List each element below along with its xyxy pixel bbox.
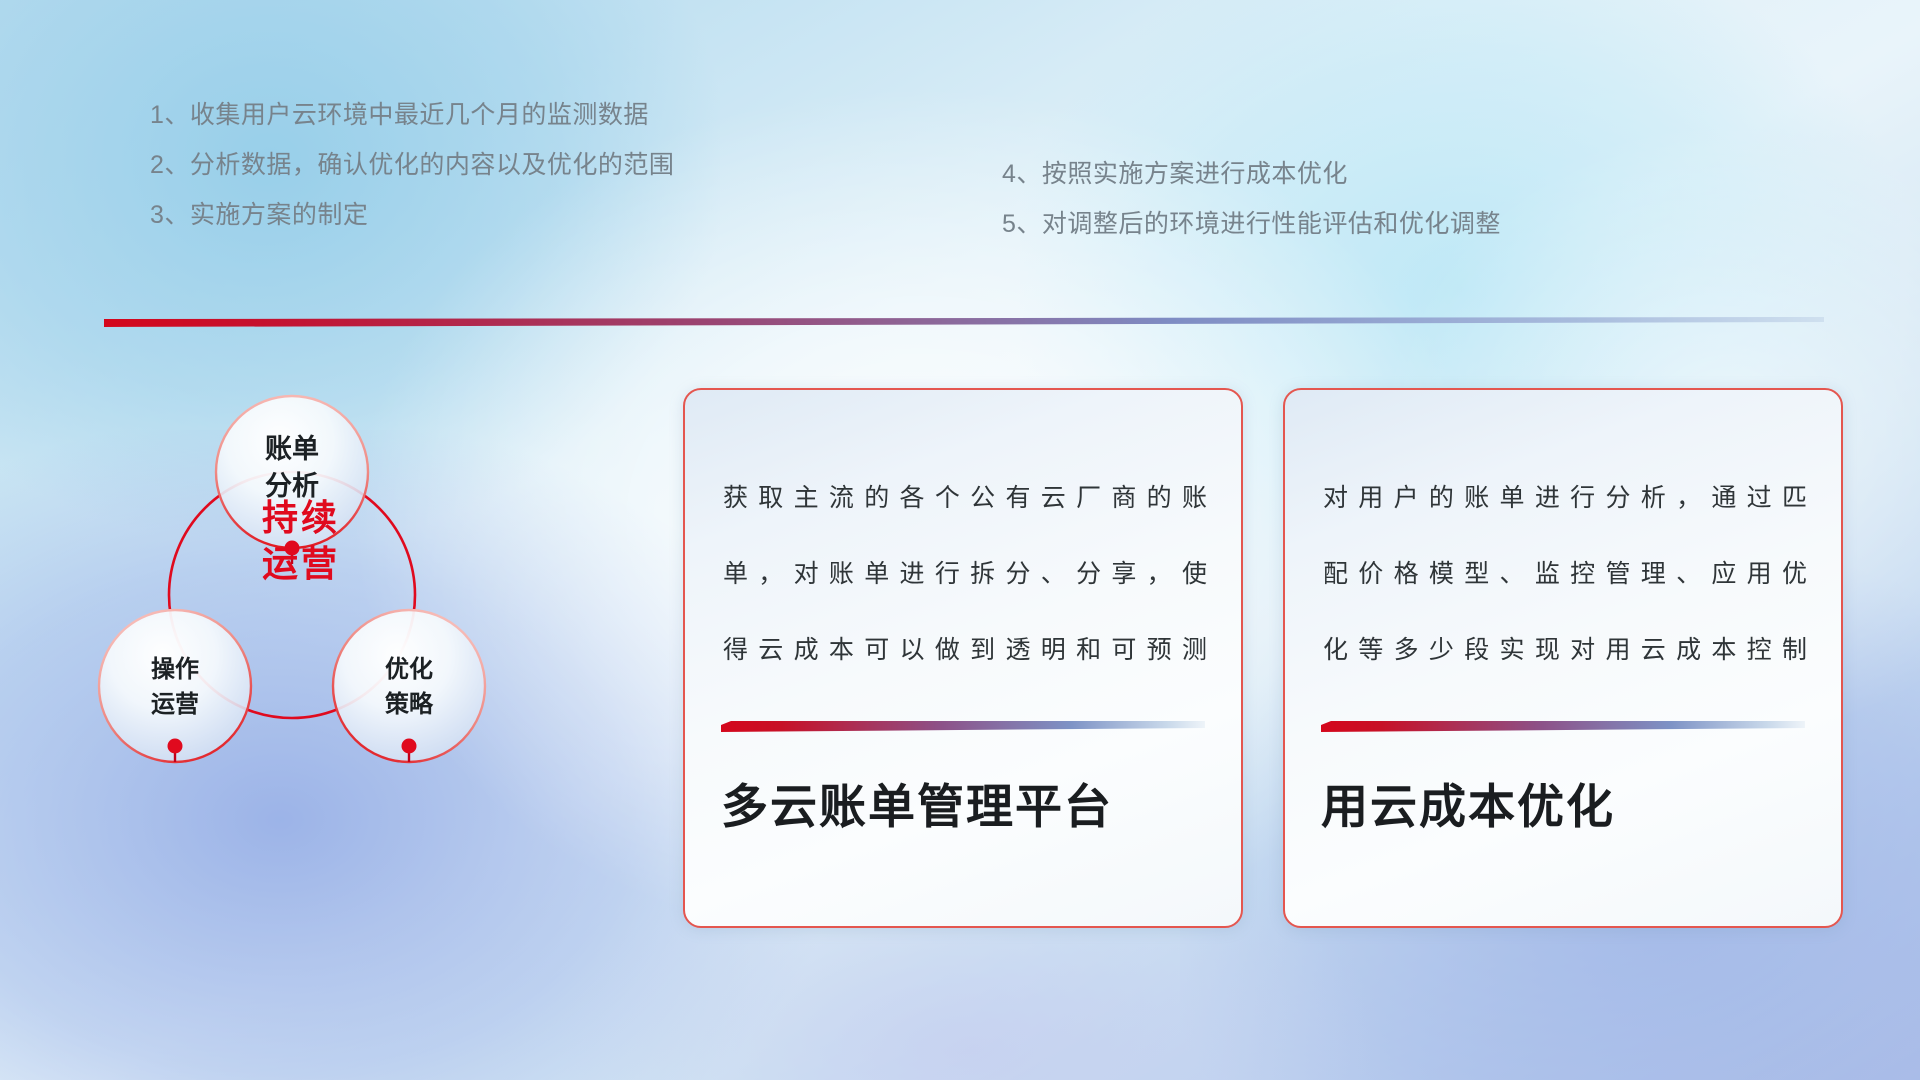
venn-node-right	[402, 739, 417, 754]
steps-list-right: 4、按照实施方案进行成本优化 5、对调整后的环境进行性能评估和优化调整	[1002, 162, 1501, 262]
card-divider	[721, 720, 1205, 732]
venn-diagram: 账单 分析 操作 运营 优化 策略 持续 持续 运营	[95, 350, 555, 770]
card-title: 用云成本优化	[1321, 768, 1811, 837]
card-cloud-cost-optimization[interactable]: 对用户的账单进行分析，通过匹 配价格模型、监控管理、应用优 化等多少段实现对用云…	[1283, 388, 1843, 928]
venn-center-line2: 运营	[246, 541, 356, 587]
card-title: 多云账单管理平台	[721, 768, 1211, 837]
venn-label-right-line2: 策略	[385, 690, 434, 718]
card-body-line: 对用户的账单进行分析，通过匹	[1323, 460, 1807, 536]
card-divider	[1321, 720, 1805, 732]
venn-center-label: 持续 运营	[246, 495, 356, 587]
step-item: 1、收集用户云环境中最近几个月的监测数据	[150, 103, 674, 128]
section-divider	[104, 314, 1824, 324]
step-item: 5、对调整后的环境进行性能评估和优化调整	[1002, 212, 1501, 237]
venn-node-left	[168, 739, 183, 754]
card-body-line: 得云成本可以做到透明和可预测	[723, 612, 1207, 688]
card-body: 获取主流的各个公有云厂商的账 单，对账单进行拆分、分享，使 得云成本可以做到透明…	[723, 460, 1207, 688]
venn-label-left-line1: 操作	[151, 656, 199, 683]
step-item: 3、实施方案的制定	[150, 203, 674, 228]
card-body-line: 单，对账单进行拆分、分享，使	[723, 536, 1207, 612]
venn-center-line1: 持续	[246, 495, 356, 541]
venn-label-right-line1: 优化	[385, 655, 433, 683]
venn-label-left-line2: 运营	[151, 691, 199, 718]
card-body-line: 获取主流的各个公有云厂商的账	[723, 460, 1207, 536]
steps-list-left: 1、收集用户云环境中最近几个月的监测数据 2、分析数据，确认优化的内容以及优化的…	[150, 103, 674, 253]
venn-label-top-line1: 账单	[265, 434, 319, 464]
card-multicloud-billing[interactable]: 获取主流的各个公有云厂商的账 单，对账单进行拆分、分享，使 得云成本可以做到透明…	[683, 388, 1243, 928]
card-body-line: 化等多少段实现对用云成本控制	[1323, 612, 1807, 688]
step-item: 2、分析数据，确认优化的内容以及优化的范围	[150, 153, 674, 178]
card-body-line: 配价格模型、监控管理、应用优	[1323, 536, 1807, 612]
card-body: 对用户的账单进行分析，通过匹 配价格模型、监控管理、应用优 化等多少段实现对用云…	[1323, 460, 1807, 688]
step-item: 4、按照实施方案进行成本优化	[1002, 162, 1501, 187]
